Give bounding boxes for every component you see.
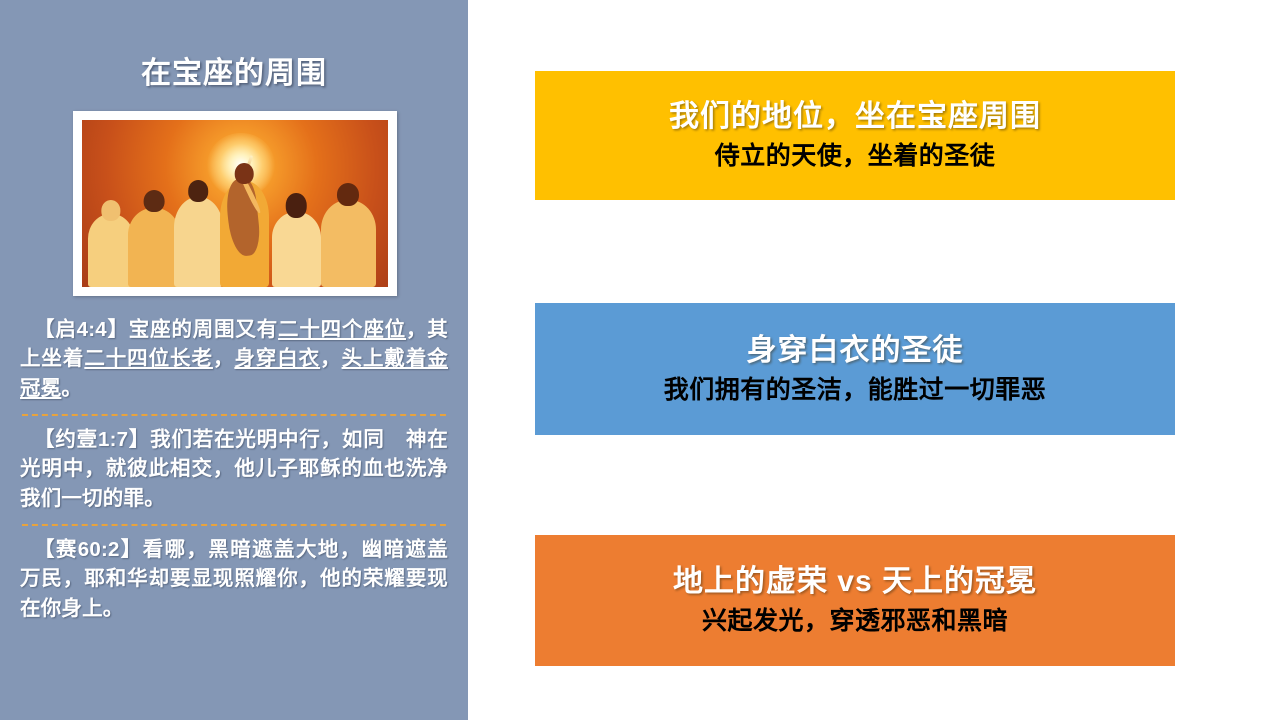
left-panel: 在宝座的周围 [0, 0, 468, 720]
verse-text-run: 【启4:4】宝座的周围又有 [34, 318, 278, 341]
slide-canvas: 在宝座的周围 [0, 0, 1280, 720]
figure-6 [321, 183, 376, 287]
verse-text-run: 【赛60:2】看哪，黑暗遮盖大地，幽暗遮盖万民，耶和华却要显现照耀你，他的荣耀要… [20, 538, 448, 620]
photo-frame [73, 111, 397, 296]
callout-box-white-robes[interactable]: 身穿白衣的圣徒 我们拥有的圣洁，能胜过一切罪恶 [535, 303, 1175, 435]
verse-divider-2 [22, 524, 446, 526]
verse-text-run: 【约壹1:7】我们若在光明中行，如同 神在光明中，就彼此相交，他儿子耶稣的血也洗… [20, 428, 448, 510]
callout-subline: 兴起发光，穿透邪恶和黑暗 [702, 606, 1008, 637]
scripture-verse-1john-1-7: 【约壹1:7】我们若在光明中行，如同 神在光明中，就彼此相交，他儿子耶稣的血也洗… [12, 425, 456, 513]
callout-subline: 我们拥有的圣洁，能胜过一切罪恶 [664, 375, 1047, 406]
callout-subline: 侍立的天使，坐着的圣徒 [715, 141, 996, 172]
scripture-list: 【启4:4】宝座的周围又有二十四个座位，其上坐着二十四位长老，身穿白衣，头上戴着… [12, 315, 456, 623]
callout-box-crowns[interactable]: 地上的虚荣 vs 天上的冠冕 兴起发光，穿透邪恶和黑暗 [535, 535, 1175, 666]
verse-text-run: ， [213, 347, 234, 370]
verse-underlined-run: 二十四位长老 [84, 347, 213, 370]
callout-headline: 身穿白衣的圣徒 [747, 333, 964, 370]
verse-divider-1 [22, 414, 446, 416]
callout-headline: 我们的地位，坐在宝座周围 [669, 99, 1041, 136]
scripture-verse-isaiah-60-2: 【赛60:2】看哪，黑暗遮盖大地，幽暗遮盖万民，耶和华却要显现照耀你，他的荣耀要… [12, 535, 456, 623]
verse-text-run: ， [320, 347, 341, 370]
figure-5 [272, 193, 321, 287]
figure-3 [174, 180, 223, 287]
verse-text-run: 。 [61, 377, 82, 400]
illustration-people-facing-light [82, 120, 388, 287]
verse-underlined-run: 身穿白衣 [234, 347, 320, 370]
figure-2 [128, 190, 180, 287]
figure-center-with-torch [220, 163, 269, 287]
page-title: 在宝座的周围 [0, 48, 468, 92]
callout-box-position[interactable]: 我们的地位，坐在宝座周围 侍立的天使，坐着的圣徒 [535, 71, 1175, 200]
verse-underlined-run: 二十四个座位 [278, 318, 406, 341]
scripture-verse-rev-4-4: 【启4:4】宝座的周围又有二十四个座位，其上坐着二十四位长老，身穿白衣，头上戴着… [12, 315, 456, 403]
callout-headline: 地上的虚荣 vs 天上的冠冕 [673, 564, 1037, 601]
